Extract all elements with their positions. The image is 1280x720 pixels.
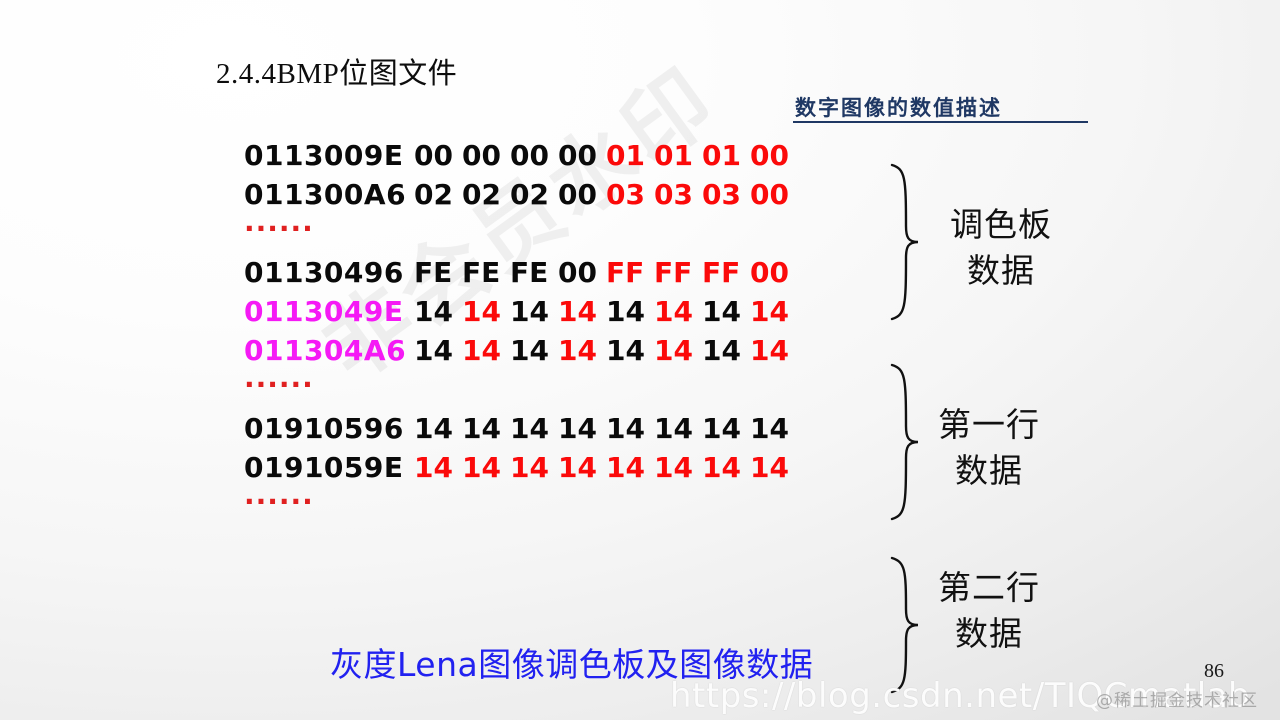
hex-address: 011304A6 [244, 331, 414, 370]
hex-byte-group: 0000000001010100 [414, 139, 798, 172]
hex-byte: 00 [750, 253, 798, 292]
hex-byte: FF [654, 253, 702, 292]
curly-brace-icon [888, 163, 922, 321]
slide-canvas: 非会员水印 2.4.4BMP位图文件 数字图像的数值描述 0113009E000… [0, 0, 1280, 720]
hex-byte-group: 0202020003030300 [414, 178, 798, 211]
hex-byte: 14 [702, 292, 750, 331]
hex-address: 011300A6 [244, 175, 414, 214]
hex-dump-listing: 0113009E0000000001010100011300A602020200… [244, 136, 798, 526]
hex-address: 01130496 [244, 253, 414, 292]
hex-row: 0191059E1414141414141414 [244, 448, 798, 487]
annotation-label-first-row-data: 第一行数据 [938, 402, 1040, 494]
hex-ellipsis: ······ [244, 487, 798, 526]
hex-byte-group: 1414141414141414 [414, 412, 798, 445]
section-heading-underline [793, 121, 1088, 123]
annotation-label-line1: 调色板 [950, 205, 1052, 244]
hex-byte: 14 [606, 448, 654, 487]
hex-byte: 02 [414, 175, 462, 214]
hex-byte: 14 [510, 331, 558, 370]
page-title: 2.4.4BMP位图文件 [216, 50, 457, 92]
hex-byte: 00 [462, 136, 510, 175]
hex-byte: 01 [606, 136, 654, 175]
annotation-label-line2: 数据 [950, 248, 1052, 294]
hex-byte: 03 [702, 175, 750, 214]
page-number: 86 [1204, 660, 1224, 683]
hex-byte-group: 1414141414141414 [414, 295, 798, 328]
curly-brace-icon [888, 556, 922, 694]
hex-row: 0113049E1414141414141414 [244, 292, 798, 331]
hex-byte: 14 [558, 331, 606, 370]
hex-byte: 14 [558, 292, 606, 331]
hex-byte: 14 [414, 292, 462, 331]
hex-byte: 03 [654, 175, 702, 214]
hex-byte: 14 [702, 331, 750, 370]
hex-byte: 03 [606, 175, 654, 214]
hex-byte: 00 [750, 175, 798, 214]
hex-byte: 14 [606, 331, 654, 370]
hex-byte: 00 [558, 136, 606, 175]
hex-address: 0191059E [244, 448, 414, 487]
hex-byte: 14 [654, 409, 702, 448]
hex-byte: 14 [462, 409, 510, 448]
hex-byte-group: 1414141414141414 [414, 451, 798, 484]
hex-row: 01130496FEFEFE00FFFFFF00 [244, 253, 798, 292]
hex-byte: 14 [654, 331, 702, 370]
hex-byte: 14 [510, 448, 558, 487]
section-heading: 数字图像的数值描述 [795, 92, 1002, 122]
hex-byte: 14 [558, 448, 606, 487]
hex-byte: 14 [750, 331, 798, 370]
hex-byte: 14 [750, 409, 798, 448]
hex-row: 0113009E0000000001010100 [244, 136, 798, 175]
hex-byte-group: 1414141414141414 [414, 334, 798, 367]
annotation-label-line2: 数据 [938, 448, 1040, 494]
annotation-label-line1: 第二行 [938, 568, 1040, 607]
hex-byte: 01 [702, 136, 750, 175]
hex-byte: 14 [414, 409, 462, 448]
hex-byte: 00 [558, 253, 606, 292]
hex-byte: 14 [654, 448, 702, 487]
hex-address: 0113009E [244, 136, 414, 175]
hex-byte: 14 [510, 409, 558, 448]
hex-byte: 00 [510, 136, 558, 175]
hex-address: 0113049E [244, 292, 414, 331]
hex-byte: 00 [414, 136, 462, 175]
annotation-label-palette-data: 调色板数据 [950, 202, 1052, 294]
hex-byte: FE [414, 253, 462, 292]
hex-ellipsis: ······ [244, 370, 798, 409]
curly-brace-icon [888, 363, 922, 521]
hex-byte: 00 [558, 175, 606, 214]
brand-watermark: @稀土掘金技术社区 [1096, 686, 1258, 711]
annotation-label-second-row-data: 第二行数据 [938, 565, 1040, 657]
hex-row: 011304A61414141414141414 [244, 331, 798, 370]
hex-byte: 14 [462, 292, 510, 331]
hex-byte: 01 [654, 136, 702, 175]
hex-byte: FE [462, 253, 510, 292]
hex-byte: FF [606, 253, 654, 292]
hex-address: 01910596 [244, 409, 414, 448]
hex-byte: 14 [654, 292, 702, 331]
hex-byte: 02 [462, 175, 510, 214]
hex-byte: 14 [462, 448, 510, 487]
hex-byte: 14 [702, 448, 750, 487]
hex-byte: FE [510, 253, 558, 292]
hex-row: 011300A60202020003030300 [244, 175, 798, 214]
hex-byte: 14 [606, 409, 654, 448]
hex-byte: 14 [414, 331, 462, 370]
hex-byte: 14 [558, 409, 606, 448]
hex-byte: 14 [750, 292, 798, 331]
hex-byte: 00 [750, 136, 798, 175]
hex-byte: 14 [510, 292, 558, 331]
hex-ellipsis: ······ [244, 214, 798, 253]
hex-byte: 14 [750, 448, 798, 487]
hex-row: 019105961414141414141414 [244, 409, 798, 448]
hex-byte: 14 [462, 331, 510, 370]
hex-byte: 14 [702, 409, 750, 448]
hex-byte: 02 [510, 175, 558, 214]
hex-byte: 14 [606, 292, 654, 331]
annotation-label-line1: 第一行 [938, 405, 1040, 444]
hex-byte-group: FEFEFE00FFFFFF00 [414, 256, 798, 289]
annotation-label-line2: 数据 [938, 611, 1040, 657]
hex-byte: 14 [414, 448, 462, 487]
hex-byte: FF [702, 253, 750, 292]
